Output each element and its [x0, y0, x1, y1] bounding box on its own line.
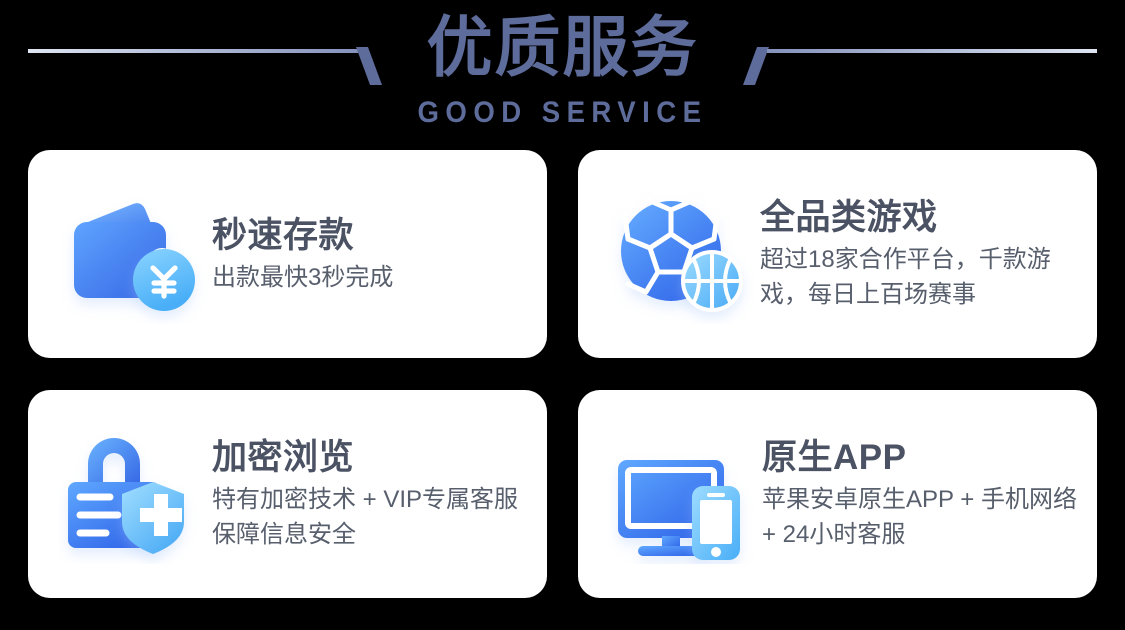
card-description: 出款最快3秒完成 [212, 260, 533, 295]
feature-card-grid: 秒速存款 出款最快3秒完成 [28, 150, 1097, 598]
card-text: 秒速存款 出款最快3秒完成 [212, 214, 547, 295]
card-text: 原生APP 苹果安卓原生APP + 手机网络 + 24小时客服 [762, 436, 1097, 552]
feature-card-native-app[interactable]: 原生APP 苹果安卓原生APP + 手机网络 + 24小时客服 [578, 390, 1097, 598]
card-title: 秒速存款 [212, 214, 533, 258]
card-text: 全品类游戏 超过18家合作平台，千款游戏，每日上百场赛事 [760, 196, 1097, 312]
card-title: 全品类游戏 [760, 196, 1083, 240]
promo-banner: 优质服务 GOOD SERVICE [0, 0, 1125, 630]
card-description: 特有加密技术 + VIP专属客服保障信息安全 [212, 482, 533, 552]
card-text: 加密浏览 特有加密技术 + VIP专属客服保障信息安全 [212, 436, 547, 552]
feature-card-deposit[interactable]: 秒速存款 出款最快3秒完成 [28, 150, 547, 358]
lock-shield-icon [58, 424, 208, 564]
header: 优质服务 GOOD SERVICE [0, 0, 1125, 145]
feature-card-encryption[interactable]: 加密浏览 特有加密技术 + VIP专属客服保障信息安全 [28, 390, 547, 598]
feature-card-games[interactable]: 全品类游戏 超过18家合作平台，千款游戏，每日上百场赛事 [578, 150, 1097, 358]
page-title: 优质服务 [0, 8, 1125, 86]
card-title: 原生APP [762, 436, 1083, 480]
page-subtitle: GOOD SERVICE [45, 96, 1080, 130]
card-description: 超过18家合作平台，千款游戏，每日上百场赛事 [760, 242, 1082, 312]
soccer-basketball-icon [608, 184, 758, 324]
wallet-yen-icon [58, 184, 208, 324]
card-description: 苹果安卓原生APP + 手机网络 + 24小时客服 [762, 482, 1083, 552]
monitor-phone-icon [608, 424, 758, 564]
card-title: 加密浏览 [212, 436, 533, 480]
